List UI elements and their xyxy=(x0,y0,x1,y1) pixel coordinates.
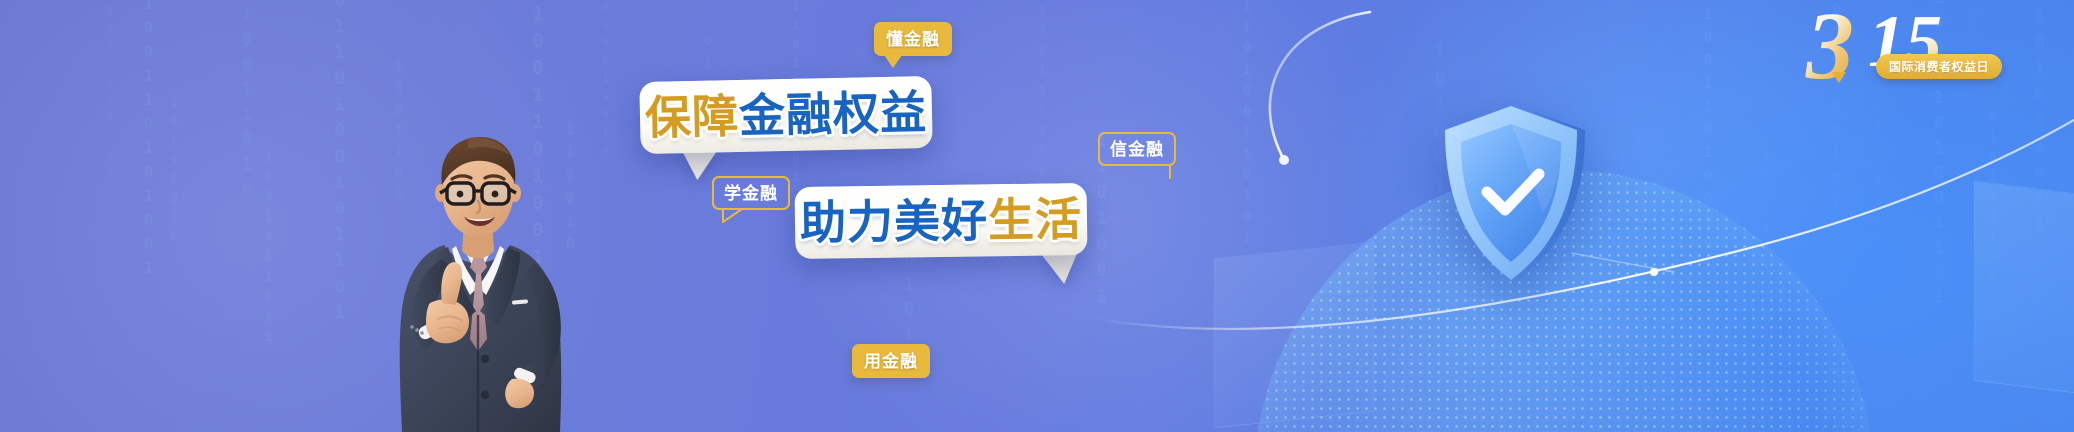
logo-subtitle-text: 国际消费者权益日 xyxy=(1889,58,1989,75)
binary-column: 10110010 xyxy=(168,96,180,248)
logo-subtitle-pill: 国际消费者权益日 xyxy=(1876,54,2002,79)
headline-2-blue-text: 助力美好 xyxy=(800,197,989,246)
logo-pill-tail xyxy=(1832,72,1846,83)
tag-xue-tail xyxy=(722,208,744,223)
tag-yong-label: 用金融 xyxy=(864,353,918,370)
tag-dong-jinrong: 懂金融 xyxy=(874,22,952,56)
binary-column: 0100110101001 xyxy=(140,0,156,282)
businessman-mascot xyxy=(384,127,584,432)
tag-xue-jinrong: 学金融 xyxy=(712,176,790,210)
tag-yong-jinrong: 用金融 xyxy=(852,344,930,378)
binary-column: 1001011001 xyxy=(262,150,275,350)
binary-column: 0110100101101 xyxy=(330,0,348,328)
headline-2-bubble-tail xyxy=(1040,252,1078,285)
background-glow-left xyxy=(0,0,700,432)
binary-column: 010011010 xyxy=(238,0,255,205)
tag-dong-tail xyxy=(884,55,902,68)
banner-root: 1010110010011010011010100110110010010011… xyxy=(0,0,2074,432)
binary-column: 1010011010 xyxy=(600,0,611,162)
binary-column: 1010110010011 xyxy=(104,0,115,220)
headline-1: 保障 金融权益 xyxy=(639,76,932,154)
shield-check-icon xyxy=(1439,100,1589,285)
logo-number-3: 3 xyxy=(1805,0,1854,90)
headline-1-gold-text: 保障 xyxy=(645,93,740,141)
headline-2-gold-text: 生活 xyxy=(988,196,1083,243)
tag-xue-label: 学金融 xyxy=(724,185,778,202)
tag-xin-jinrong: 信金融 xyxy=(1098,132,1176,166)
tag-xin-label: 信金融 xyxy=(1110,141,1164,158)
tag-dong-label: 懂金融 xyxy=(886,31,940,48)
headline-1-blue-text: 金融权益 xyxy=(739,89,928,139)
tag-xin-tail xyxy=(1150,164,1172,180)
headline-2: 助力美好 生活 xyxy=(795,183,1088,259)
